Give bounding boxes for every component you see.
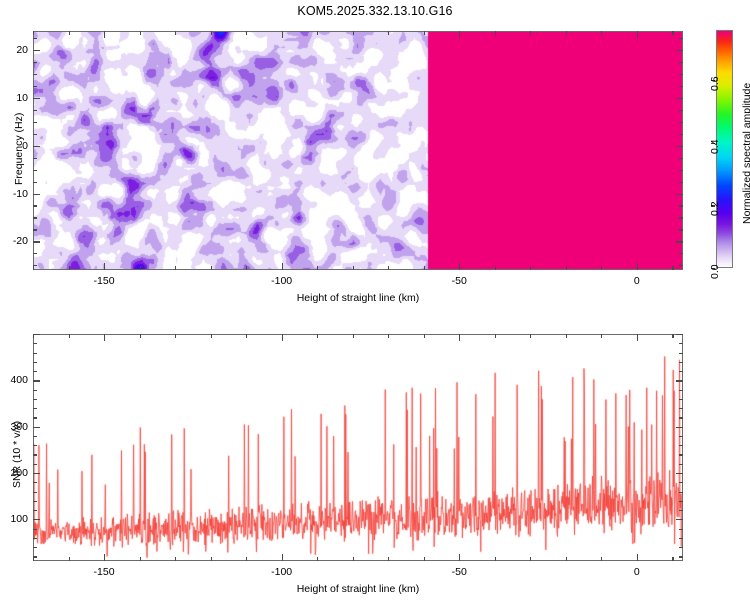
snr-x-tick <box>459 334 460 341</box>
spectrogram-x-tick <box>211 31 212 35</box>
spectrogram-y-tick <box>33 62 37 63</box>
snr-y-tick <box>679 445 683 446</box>
snr-x-tick <box>637 554 638 561</box>
spectrogram-x-tick-label: 0 <box>634 275 640 287</box>
snr-x-tick-label: 0 <box>634 566 640 578</box>
snr-y-tick <box>33 427 40 428</box>
spectrogram-x-tick <box>495 266 496 270</box>
snr-x-tick <box>69 557 70 561</box>
snr-y-tick <box>679 353 683 354</box>
spectrogram-y-tick <box>33 205 37 206</box>
spectrogram-x-tick <box>566 31 567 35</box>
spectrogram-x-tick <box>459 31 460 38</box>
spectrogram-y-tick <box>679 110 683 111</box>
snr-y-tick-label: 100 <box>4 513 28 525</box>
spectrogram-x-tick <box>317 266 318 270</box>
spectrogram-x-tick <box>388 266 389 270</box>
snr-y-tick <box>33 510 37 511</box>
spectrogram-x-tick <box>33 31 34 35</box>
snr-y-tick <box>676 473 683 474</box>
snr-y-tick <box>33 408 37 409</box>
spectrogram-y-tick <box>33 74 37 75</box>
snr-y-tick-label: 400 <box>4 374 28 386</box>
spectrogram-y-tick <box>676 98 683 99</box>
snr-y-tick <box>33 399 37 400</box>
spectrogram-x-tick <box>672 31 673 35</box>
snr-x-tick <box>140 334 141 338</box>
spectrogram-y-tick-label: 20 <box>8 44 28 56</box>
snr-y-tick <box>676 427 683 428</box>
snr-x-tick <box>672 334 673 338</box>
spectrogram-y-tick <box>679 86 683 87</box>
spectrogram-x-tick <box>530 31 531 35</box>
figure-root: KOM5.2025.332.13.10.G16 -150-100-500-20-… <box>0 0 750 600</box>
snr-x-tick <box>353 557 354 561</box>
snr-y-tick <box>33 482 37 483</box>
spectrogram-x-tick <box>69 31 70 35</box>
snr-x-tick-label: -150 <box>94 566 115 578</box>
spectrogram-x-tick <box>69 266 70 270</box>
snr-x-tick <box>424 557 425 561</box>
spectrogram-x-tick-label: -150 <box>94 275 115 287</box>
snr-x-tick <box>672 557 673 561</box>
snr-x-tick <box>33 557 34 561</box>
colorbar-title: Normalized spectral amplitude <box>741 83 750 224</box>
spectrogram-x-tick <box>246 266 247 270</box>
snr-x-tick <box>282 554 283 561</box>
snr-y-tick <box>33 371 37 372</box>
snr-y-tick <box>676 380 683 381</box>
snr-trace-plot <box>34 335 683 561</box>
snr-y-tick <box>679 482 683 483</box>
snr-y-tick <box>679 408 683 409</box>
snr-y-tick <box>33 436 37 437</box>
snr-y-tick <box>676 519 683 520</box>
spectrogram-x-tick <box>246 31 247 35</box>
snr-x-tick <box>601 557 602 561</box>
spectrogram-y-tick <box>33 182 37 183</box>
colorbar-tick-label: 0.6 <box>709 76 721 91</box>
snr-y-tick <box>679 371 683 372</box>
snr-y-tick <box>33 519 40 520</box>
snr-y-tick <box>679 464 683 465</box>
spectrogram-x-tick <box>33 266 34 270</box>
snr-x-tick <box>424 334 425 338</box>
spectrogram-y-tick <box>33 50 40 51</box>
spectrogram-y-tick <box>33 98 40 99</box>
snr-y-tick <box>679 417 683 418</box>
snr-x-tick <box>566 334 567 338</box>
snr-x-tick <box>69 334 70 338</box>
snr-y-tick <box>679 501 683 502</box>
snr-y-tick <box>679 529 683 530</box>
spectrogram-x-tick <box>601 266 602 270</box>
snr-x-axis-title: Height of straight line (km) <box>297 583 420 595</box>
snr-y-tick <box>679 538 683 539</box>
spectrogram-y-tick <box>33 86 37 87</box>
spectrogram-y-tick <box>679 217 683 218</box>
spectrogram-x-tick <box>211 266 212 270</box>
snr-x-tick <box>459 554 460 561</box>
spectrogram-y-tick <box>679 253 683 254</box>
spectrogram-x-tick-label: -50 <box>452 275 467 287</box>
spectrogram-x-tick <box>424 31 425 35</box>
spectrogram-x-tick <box>353 31 354 35</box>
snr-x-tick-label: -50 <box>452 566 467 578</box>
snr-y-tick <box>33 353 37 354</box>
spectrogram-y-tick <box>676 50 683 51</box>
snr-y-tick <box>679 492 683 493</box>
spectrogram-y-tick <box>33 134 37 135</box>
snr-y-tick <box>679 390 683 391</box>
spectrogram-y-tick <box>33 217 37 218</box>
snr-y-tick <box>33 464 37 465</box>
snr-x-tick <box>637 334 638 341</box>
snr-y-tick <box>679 547 683 548</box>
snr-y-tick <box>679 454 683 455</box>
spectrogram-y-tick <box>33 170 37 171</box>
spectrogram-x-tick <box>495 31 496 35</box>
snr-y-tick <box>33 334 40 335</box>
spectrogram-y-tick <box>679 229 683 230</box>
spectrogram-panel <box>33 31 683 270</box>
spectrogram-x-tick <box>459 263 460 270</box>
spectrogram-x-tick-label: -100 <box>271 275 292 287</box>
spectrogram-x-tick <box>282 263 283 270</box>
snr-x-tick <box>104 334 105 341</box>
snr-y-tick <box>33 473 40 474</box>
spectrogram-x-tick <box>175 266 176 270</box>
spectrogram-y-tick <box>33 265 37 266</box>
spectrogram-y-tick <box>679 74 683 75</box>
spectrogram-x-tick <box>140 266 141 270</box>
snr-y-tick <box>33 454 37 455</box>
snr-x-tick <box>530 334 531 338</box>
snr-y-axis-title: SNR (10 * v/v) <box>11 420 23 487</box>
spectrogram-x-tick <box>317 31 318 35</box>
colorbar-tick-label: 0.0 <box>709 264 721 279</box>
spectrogram-y-tick <box>679 182 683 183</box>
snr-x-tick <box>175 557 176 561</box>
spectrogram-y-tick-label: -20 <box>8 235 28 247</box>
spectrogram-x-tick <box>104 263 105 270</box>
snr-y-tick <box>33 547 37 548</box>
snr-y-tick <box>679 399 683 400</box>
spectrogram-x-tick <box>566 266 567 270</box>
snr-x-tick <box>530 557 531 561</box>
snr-y-tick <box>679 556 683 557</box>
snr-x-tick <box>353 334 354 338</box>
snr-x-tick <box>495 557 496 561</box>
spectrogram-x-tick <box>353 266 354 270</box>
spectrogram-x-tick <box>530 266 531 270</box>
spectrogram-y-tick <box>33 158 37 159</box>
spectrogram-x-tick <box>637 31 638 38</box>
spectrogram-y-tick <box>679 122 683 123</box>
snr-y-tick <box>679 436 683 437</box>
colorbar-tick-label: 0.2 <box>709 202 721 217</box>
snr-y-tick <box>33 362 37 363</box>
spectrogram-x-tick <box>282 31 283 38</box>
snr-y-tick <box>33 556 37 557</box>
spectrogram-x-axis-title: Height of straight line (km) <box>297 292 420 304</box>
snr-x-tick <box>317 334 318 338</box>
spectrogram-y-tick <box>679 205 683 206</box>
snr-y-tick <box>33 492 37 493</box>
snr-x-tick <box>140 557 141 561</box>
snr-x-tick <box>104 554 105 561</box>
spectrogram-y-tick <box>676 241 683 242</box>
snr-x-tick <box>388 334 389 338</box>
snr-y-tick <box>676 334 683 335</box>
spectrogram-x-tick <box>637 263 638 270</box>
snr-x-tick <box>175 334 176 338</box>
snr-y-tick <box>33 417 37 418</box>
spectrogram-y-tick <box>679 134 683 135</box>
spectrogram-y-tick-label: -10 <box>8 188 28 200</box>
snr-y-tick <box>33 445 37 446</box>
snr-x-tick <box>566 557 567 561</box>
spectrogram-y-tick <box>33 253 37 254</box>
spectrogram-y-tick-label: 10 <box>8 92 28 104</box>
colorbar-tick-label: 0.4 <box>709 139 721 154</box>
spectrogram-y-tick <box>33 194 40 195</box>
spectrogram-x-tick <box>175 31 176 35</box>
spectrogram-y-tick <box>33 38 37 39</box>
snr-y-tick <box>33 380 40 381</box>
spectrogram-x-tick <box>672 266 673 270</box>
snr-y-tick <box>33 343 37 344</box>
snr-y-tick <box>679 510 683 511</box>
spectrogram-y-tick <box>679 170 683 171</box>
spectrogram-y-tick <box>676 146 683 147</box>
spectrogram-y-tick <box>33 110 37 111</box>
snr-x-tick <box>601 334 602 338</box>
spectrogram-x-tick <box>424 266 425 270</box>
snr-x-tick <box>282 334 283 341</box>
snr-x-tick <box>211 334 212 338</box>
snr-x-tick <box>211 557 212 561</box>
spectrogram-y-tick <box>33 229 37 230</box>
snr-x-tick-label: -100 <box>271 566 292 578</box>
snr-x-tick <box>317 557 318 561</box>
spectrogram-x-tick <box>601 31 602 35</box>
spectrogram-y-tick <box>33 122 37 123</box>
snr-y-tick <box>33 538 37 539</box>
snr-x-tick <box>246 334 247 338</box>
snr-y-tick <box>33 529 37 530</box>
snr-y-tick <box>33 501 37 502</box>
snr-y-tick <box>679 343 683 344</box>
spectrogram-y-axis-title: Frequency (Hz) <box>13 112 25 184</box>
spectrogram-y-tick <box>679 62 683 63</box>
spectrogram-y-tick <box>33 146 40 147</box>
snr-y-tick <box>33 390 37 391</box>
snr-x-tick <box>495 334 496 338</box>
spectrogram-y-tick <box>33 241 40 242</box>
spectrogram-y-tick <box>679 265 683 266</box>
figure-title: KOM5.2025.332.13.10.G16 <box>0 4 750 18</box>
spectrogram-y-tick <box>679 38 683 39</box>
spectrogram-y-tick <box>676 194 683 195</box>
snr-panel <box>33 334 683 561</box>
spectrogram-y-tick <box>679 158 683 159</box>
spectrogram-x-tick <box>104 31 105 38</box>
snr-x-tick <box>246 557 247 561</box>
spectrogram-x-tick <box>388 31 389 35</box>
spectrogram-image <box>34 32 683 270</box>
snr-x-tick <box>388 557 389 561</box>
spectrogram-x-tick <box>140 31 141 35</box>
snr-y-tick <box>679 362 683 363</box>
